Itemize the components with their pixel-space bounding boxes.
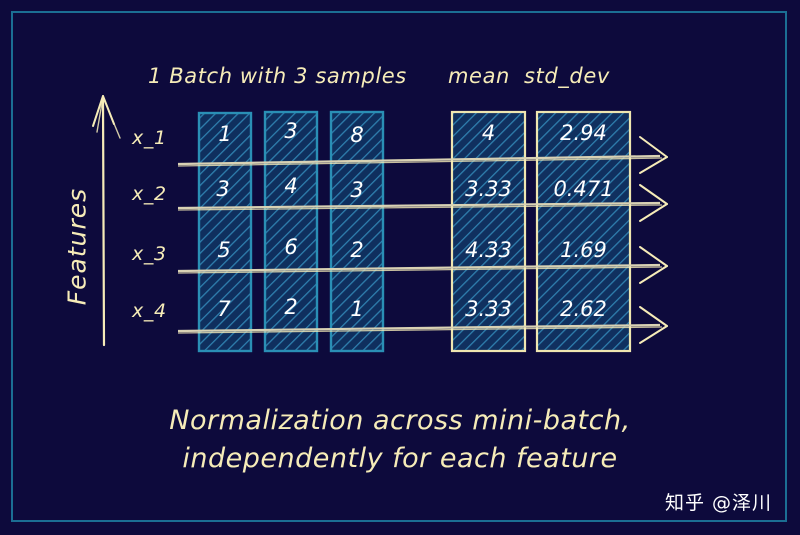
cell-x4-s1: 7 [198,297,250,321]
watermark-label: 知乎 @泽川 [665,488,772,515]
std-dev-value-x1: 2.94 [537,121,630,145]
std-dev-value-x4: 2.62 [537,297,630,321]
cell-x3-s2: 6 [265,235,317,259]
mean-header-label: mean [448,64,510,88]
cell-x1-s1: 1 [199,122,251,146]
caption-line-1: Normalization across mini-batch, [0,405,800,436]
std-dev-value-x3: 1.69 [537,238,630,262]
std-dev-value-x2: 0.471 [537,177,630,201]
cell-x2-s3: 3 [331,178,383,202]
cell-x2-s2: 4 [265,174,317,198]
features-axis-label: Features [63,167,92,327]
mean-value-x3: 4.33 [452,238,525,262]
cell-x4-s3: 1 [331,297,383,321]
row-label-x1: x_1 [132,127,167,149]
batch-header-label: 1 Batch with 3 samples [148,64,407,88]
diagram-canvas: 1 Batch with 3 samples mean std_dev Feat… [0,0,800,535]
row-label-x4: x_4 [132,300,167,322]
mean-value-x1: 4 [452,121,525,145]
mean-value-x2: 3.33 [452,177,525,201]
features-axis-arrow [93,96,120,345]
std-dev-header-label: std_dev [524,64,610,88]
caption-line-2: independently for each feature [0,443,800,474]
cell-x3-s1: 5 [198,238,250,262]
cell-x1-s2: 3 [265,119,317,143]
cell-x3-s3: 2 [331,238,383,262]
mean-value-x4: 3.33 [452,297,525,321]
row-label-x3: x_3 [132,243,167,265]
cell-x1-s3: 8 [331,123,383,147]
row-label-x2: x_2 [132,183,167,205]
cell-x2-s1: 3 [197,177,249,201]
cell-x4-s2: 2 [265,295,317,319]
